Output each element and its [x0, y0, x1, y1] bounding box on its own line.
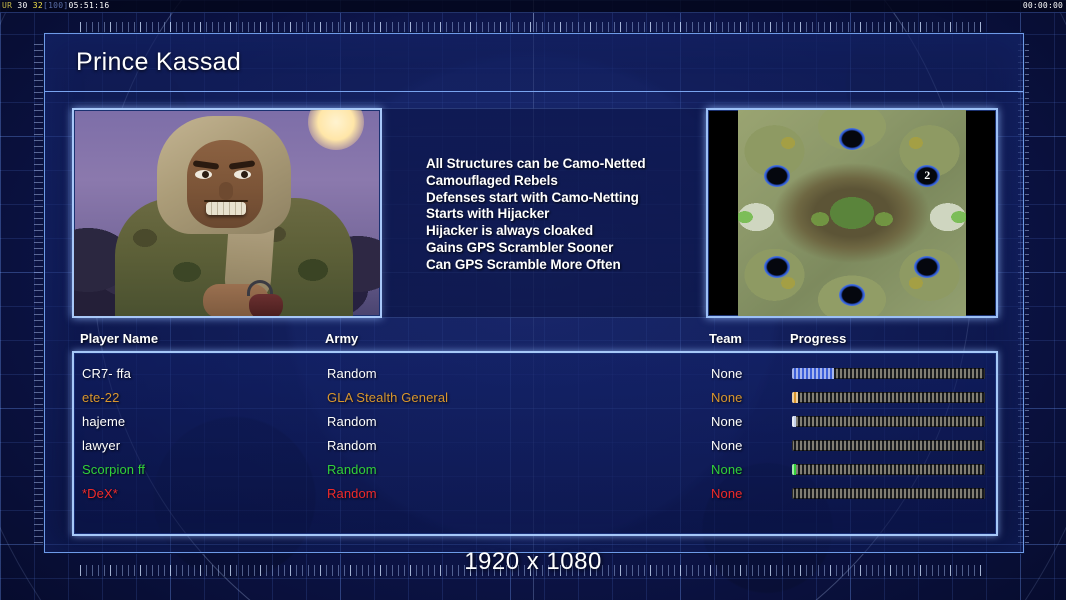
- map-terrain: 2: [738, 110, 966, 316]
- player-name: Scorpion ff: [82, 462, 145, 477]
- player-progress-bar: [792, 440, 985, 451]
- map-start-position: [764, 256, 790, 278]
- general-info-window: Prince Kassad: [44, 33, 1024, 553]
- general-bonuses-panel: All Structures can be Camo-Netted Camouf…: [382, 108, 706, 318]
- top-status-bar: UR 30 32[100]05:51:16 00:00:00: [0, 0, 1066, 13]
- map-start-position: [839, 128, 865, 150]
- map-start-position: 2: [914, 165, 940, 187]
- eye-left: [195, 170, 212, 179]
- column-header-team: Team: [709, 331, 742, 346]
- map-start-position: [839, 284, 865, 306]
- eyebrow-right: [229, 160, 256, 170]
- player-table-header: Player Name Army Team Progress: [72, 331, 998, 351]
- player-army: Random: [327, 366, 377, 381]
- player-team: None: [711, 486, 742, 501]
- eyebrow-left: [193, 160, 220, 170]
- table-row[interactable]: Scorpion ff Random None: [74, 457, 996, 481]
- player-army: Random: [327, 462, 377, 477]
- player-name: CR7- ffa: [82, 366, 131, 381]
- bonus-item: Camouflaged Rebels: [426, 173, 646, 190]
- face: [187, 140, 263, 228]
- player-table: CR7- ffa Random None ete-22 GLA Stealth …: [72, 351, 998, 536]
- bonus-item: Can GPS Scramble More Often: [426, 257, 646, 274]
- player-progress-bar: [792, 464, 985, 475]
- bonus-item: Defenses start with Camo-Netting: [426, 190, 646, 207]
- page-title: Prince Kassad: [76, 48, 241, 77]
- player-name: hajeme: [82, 414, 125, 429]
- map-start-position: [764, 165, 790, 187]
- eye-right: [234, 170, 251, 179]
- general-portrait: [72, 108, 382, 318]
- player-name: lawyer: [82, 438, 120, 453]
- bonus-item: All Structures can be Camo-Netted: [426, 156, 646, 173]
- bonus-item: Gains GPS Scrambler Sooner: [426, 240, 646, 257]
- player-name: ete-22: [82, 390, 119, 405]
- debug-time: 05:51:16: [69, 1, 110, 10]
- session-clock: 00:00:00: [1023, 2, 1066, 10]
- debug-number: 32: [33, 1, 43, 10]
- map-start-position: [914, 256, 940, 278]
- soldier-figure: [109, 116, 359, 316]
- player-progress-bar: [792, 368, 985, 379]
- teeth: [206, 202, 246, 215]
- player-progress-bar: [792, 488, 985, 499]
- table-row[interactable]: *DeX* Random None: [74, 481, 996, 505]
- player-progress-bar: [792, 392, 985, 403]
- bonus-list: All Structures can be Camo-Netted Camouf…: [426, 156, 646, 274]
- player-army: GLA Stealth General: [327, 390, 448, 405]
- nose: [219, 182, 233, 200]
- column-header-progress: Progress: [790, 331, 846, 346]
- player-team: None: [711, 366, 742, 381]
- map-preview[interactable]: 2: [706, 108, 998, 318]
- bonus-item: Hijacker is always cloaked: [426, 223, 646, 240]
- soldier-head: [171, 122, 275, 234]
- player-army: Random: [327, 414, 377, 429]
- debug-bracket: [100]: [43, 1, 69, 10]
- debug-prefix: UR: [2, 1, 12, 10]
- column-header-player-name: Player Name: [80, 331, 158, 346]
- player-army: Random: [327, 486, 377, 501]
- player-team: None: [711, 390, 742, 405]
- table-row[interactable]: ete-22 GLA Stealth General None: [74, 385, 996, 409]
- table-row[interactable]: lawyer Random None: [74, 433, 996, 457]
- table-row[interactable]: CR7- ffa Random None: [74, 361, 996, 385]
- player-team: None: [711, 462, 742, 477]
- bonus-item: Starts with Hijacker: [426, 206, 646, 223]
- column-header-army: Army: [325, 331, 358, 346]
- player-army: Random: [327, 438, 377, 453]
- player-progress-bar: [792, 416, 985, 427]
- ruler-top: [80, 22, 986, 33]
- player-name: *DeX*: [82, 486, 118, 501]
- debug-fps: 30: [17, 1, 27, 10]
- teapot-body: [249, 294, 283, 318]
- player-team: None: [711, 414, 742, 429]
- upper-content-row: All Structures can be Camo-Netted Camouf…: [72, 108, 998, 318]
- player-team: None: [711, 438, 742, 453]
- table-row[interactable]: hajeme Random None: [74, 409, 996, 433]
- window-title-bar: Prince Kassad: [45, 34, 1023, 92]
- debug-readout: UR 30 32[100]05:51:16: [0, 2, 109, 10]
- teapot-icon: [245, 286, 287, 318]
- resolution-label: 1920 x 1080: [0, 548, 1066, 576]
